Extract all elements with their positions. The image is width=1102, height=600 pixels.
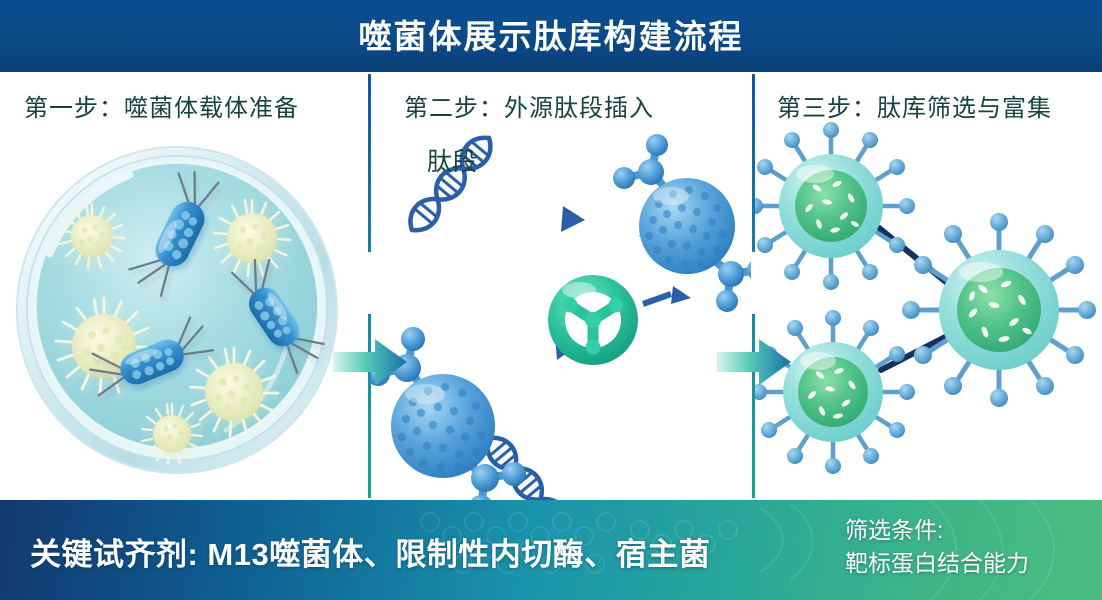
screening-condition-value: 靶标蛋白结合能力 bbox=[845, 547, 1029, 580]
petri-dish-illustration bbox=[12, 134, 342, 482]
footer-banner: 关键试齐剂: M13噬菌体、限制性内切酶、宿主菌 筛选条件: 靶标蛋白结合能力 bbox=[0, 500, 1102, 600]
arrow-peptide-in-top bbox=[561, 206, 585, 232]
phage-particle bbox=[755, 310, 915, 474]
phage-capsid-molecule bbox=[613, 134, 752, 312]
divider-2 bbox=[752, 74, 755, 498]
screening-condition-label: 筛选条件: bbox=[845, 514, 1029, 547]
step-1-label: 第一步：噬菌体载体准备 bbox=[24, 88, 299, 123]
screening-condition-block: 筛选条件: 靶标蛋白结合能力 bbox=[845, 514, 1029, 580]
infographic-poster: 噬菌体展示肽库构建流程 第一步：噬菌体载体准备 bbox=[0, 0, 1102, 600]
panel-step-1: 第一步：噬菌体载体准备 bbox=[0, 72, 368, 500]
insertion-hub-icon bbox=[548, 275, 638, 365]
peptide-label: 肽段 bbox=[427, 142, 477, 178]
panel-step-2: 第二步：外源肽段插入 bbox=[371, 72, 752, 500]
arrow-step2-to-step3 bbox=[717, 337, 791, 387]
panels-stage: 第一步：噬菌体载体准备 bbox=[0, 72, 1102, 500]
key-reagents-text: 关键试齐剂: M13噬菌体、限制性内切酶、宿主菌 bbox=[30, 529, 710, 574]
arrow-step1-to-step2 bbox=[333, 337, 407, 387]
divider-1 bbox=[368, 74, 371, 498]
phage-particle bbox=[902, 213, 1096, 407]
arrow-hub-to-capsid bbox=[643, 294, 671, 304]
header-bar: 噬菌体展示肽库构建流程 bbox=[0, 0, 1102, 72]
phage-enrichment-illustration bbox=[755, 108, 1102, 500]
panel-step-3: 第三步：肽库筛选与富集 bbox=[755, 72, 1102, 500]
phage-particle bbox=[755, 122, 915, 290]
page-title: 噬菌体展示肽库构建流程 bbox=[359, 20, 744, 53]
